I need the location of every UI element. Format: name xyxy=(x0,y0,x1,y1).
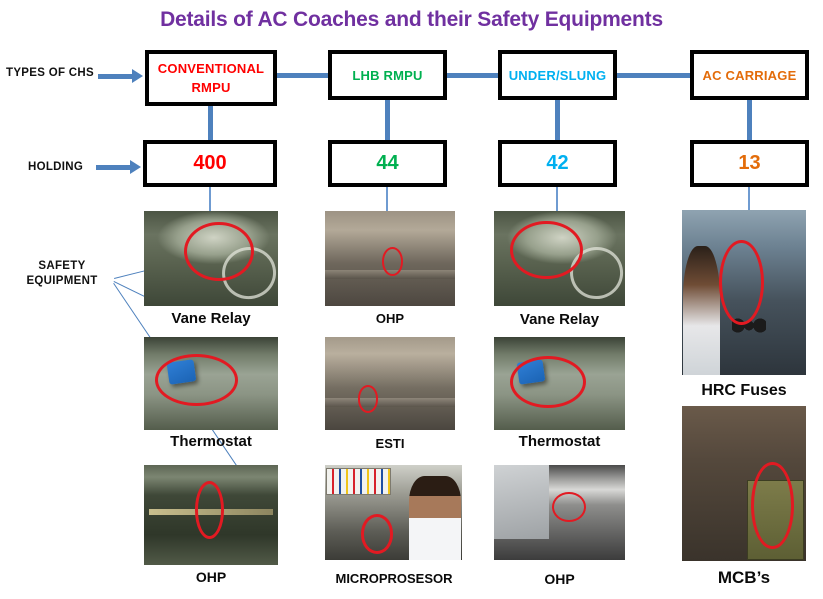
caption-col1-row3: OHP xyxy=(144,569,278,585)
row-label-safety-equipment: SAFETY EQUIPMENT xyxy=(8,259,116,289)
type-box-lhb-rmpu-label: LHB RMPU xyxy=(352,66,422,85)
type-box-conventional-rmpu-line2: RMPU xyxy=(158,78,264,97)
row-label-holding: HOLDING xyxy=(28,161,83,173)
photo-col4-mcbs[interactable] xyxy=(682,406,806,561)
highlight-ellipse xyxy=(184,222,254,281)
arrow-types-of-chs-shaft xyxy=(98,74,134,79)
arrow-holding-shaft xyxy=(96,165,132,170)
caption-col2-row3: MICROPROSESOR xyxy=(320,571,468,586)
caption-col1-row1: Vane Relay xyxy=(144,310,278,327)
holding-value-lhb-rmpu: 44 xyxy=(376,154,398,173)
caption-col4-row2: MCB’s xyxy=(672,568,816,588)
holding-value-under-slung: 42 xyxy=(546,154,568,173)
connector-type-2-3 xyxy=(447,73,498,78)
highlight-ellipse xyxy=(155,354,238,406)
photo-col2-esti[interactable] xyxy=(325,337,455,430)
type-box-under-slung-label: UNDER/SLUNG xyxy=(509,66,607,85)
type-box-ac-carriage-label: AC CARRIAGE xyxy=(703,66,797,85)
photo-col3-thermostat[interactable] xyxy=(494,337,625,430)
photo-col1-ohp[interactable] xyxy=(144,465,278,565)
caption-col1-row2: Thermostat xyxy=(144,433,278,450)
type-box-conventional-rmpu[interactable]: CONVENTIONAL RMPU xyxy=(145,50,277,106)
connector-col1-type-to-holding xyxy=(208,106,213,140)
type-box-lhb-rmpu[interactable]: LHB RMPU xyxy=(328,50,447,100)
photo-col4-hrc-fuses[interactable] xyxy=(682,210,806,375)
photo-texture xyxy=(325,337,455,430)
highlight-ellipse xyxy=(719,240,764,326)
holding-box-ac-carriage[interactable]: 13 xyxy=(690,140,809,187)
holding-box-conventional-rmpu[interactable]: 400 xyxy=(143,140,277,187)
row-label-types-of-chs: TYPES OF CHS xyxy=(6,67,94,79)
highlight-ellipse xyxy=(510,356,586,408)
caption-col2-row1: OHP xyxy=(325,311,455,326)
photo-col2-microprosesor[interactable] xyxy=(325,465,462,560)
photo-col3-ohp[interactable] xyxy=(494,465,625,560)
connector-type-1-2 xyxy=(277,73,328,78)
safety-label-line2: EQUIPMENT xyxy=(8,274,116,289)
highlight-ellipse xyxy=(382,247,403,276)
caption-col4-row1: HRC Fuses xyxy=(672,382,816,400)
photo-texture xyxy=(325,465,462,560)
photo-col1-vane-relay[interactable] xyxy=(144,211,278,306)
connector-type-3-4 xyxy=(617,73,690,78)
type-box-conventional-rmpu-line1: CONVENTIONAL xyxy=(158,59,264,78)
caption-col3-row2: Thermostat xyxy=(494,433,625,450)
safety-label-line1: SAFETY xyxy=(8,259,116,274)
type-box-ac-carriage[interactable]: AC CARRIAGE xyxy=(690,50,809,100)
connector-col3-type-to-holding xyxy=(555,100,560,140)
highlight-ellipse xyxy=(510,221,583,280)
photo-col3-vane-relay[interactable] xyxy=(494,211,625,306)
connector-col4-type-to-holding xyxy=(747,100,752,140)
highlight-ellipse xyxy=(751,462,793,549)
connector-col2-type-to-holding xyxy=(385,100,390,140)
caption-col3-row3: OHP xyxy=(494,571,625,587)
caption-col3-row1: Vane Relay xyxy=(494,311,625,328)
page-title: Details of AC Coaches and their Safety E… xyxy=(0,8,823,32)
highlight-ellipse xyxy=(552,492,586,522)
holding-value-ac-carriage: 13 xyxy=(738,154,760,173)
holding-value-conventional-rmpu: 400 xyxy=(193,154,226,173)
caption-col2-row2: ESTI xyxy=(325,436,455,451)
slide-canvas: Details of AC Coaches and their Safety E… xyxy=(0,0,823,599)
arrow-holding-head xyxy=(130,160,141,174)
holding-box-lhb-rmpu[interactable]: 44 xyxy=(328,140,447,187)
type-box-under-slung[interactable]: UNDER/SLUNG xyxy=(498,50,617,100)
photo-col1-thermostat[interactable] xyxy=(144,337,278,430)
photo-col2-ohp[interactable] xyxy=(325,211,455,306)
holding-box-under-slung[interactable]: 42 xyxy=(498,140,617,187)
arrow-types-of-chs-head xyxy=(132,69,143,83)
